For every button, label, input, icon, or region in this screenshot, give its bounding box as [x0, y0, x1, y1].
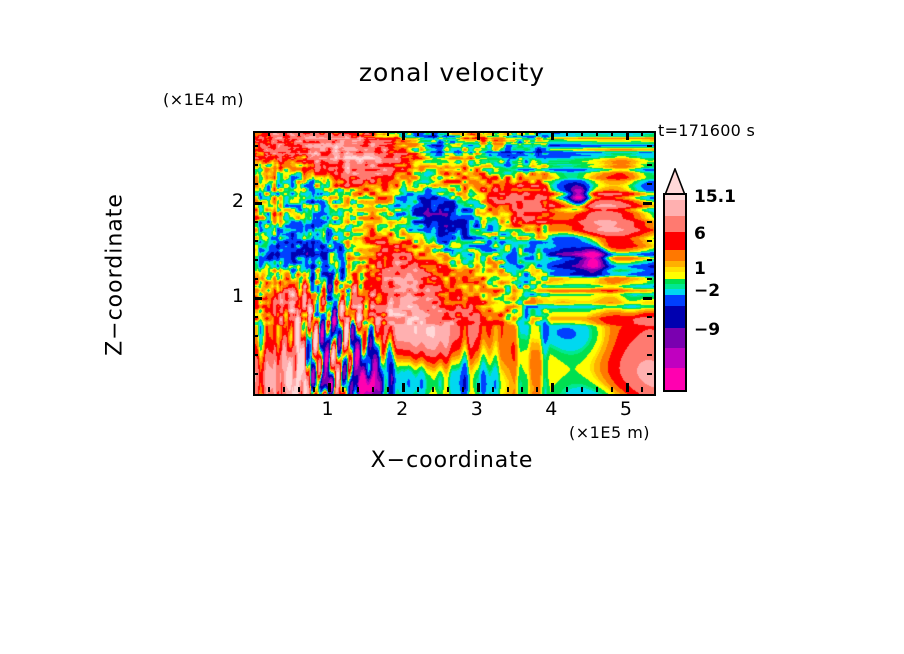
- axis-tick: [507, 387, 509, 392]
- axis-tick: [647, 373, 652, 375]
- axis-tick: [253, 354, 258, 356]
- colorbar-tick-label: −2: [694, 281, 720, 301]
- axis-tick: [313, 131, 315, 136]
- axis-tick: [357, 387, 359, 392]
- axis-tick: [253, 297, 262, 300]
- axis-tick: [626, 131, 629, 140]
- axis-tick: [566, 131, 568, 136]
- colorbar-tick-label: −9: [694, 320, 720, 340]
- axis-tick: [647, 278, 652, 280]
- colorbar-tick-label: 15.1: [694, 187, 736, 207]
- axis-tick: [647, 316, 652, 318]
- axis-tick: [477, 131, 480, 140]
- axis-tick: [387, 131, 389, 136]
- axis-tick: [647, 164, 652, 166]
- axis-tick: [313, 387, 315, 392]
- axis-tick: [647, 259, 652, 261]
- y-tick-label: 1: [222, 285, 244, 307]
- colorbar-tick-label: 6: [694, 224, 706, 244]
- axis-tick: [402, 131, 405, 140]
- axis-tick: [521, 387, 523, 392]
- timestamp-label: t=171600 s: [658, 121, 755, 140]
- x-axis-title: X−coordinate: [0, 448, 904, 473]
- axis-tick: [253, 202, 262, 205]
- colorbar-band: [665, 200, 685, 216]
- axis-tick: [611, 387, 613, 392]
- axis-tick: [462, 387, 464, 392]
- x-tick-label: 1: [313, 398, 343, 420]
- axis-tick: [417, 387, 419, 392]
- axis-tick: [253, 164, 258, 166]
- axis-tick: [647, 240, 652, 242]
- axis-tick: [402, 383, 405, 392]
- axis-tick: [283, 387, 285, 392]
- axis-tick: [566, 387, 568, 392]
- page-title: zonal velocity: [0, 58, 904, 87]
- axis-tick: [626, 383, 629, 392]
- contour-field-canvas: [255, 133, 654, 394]
- colorbar-band: [665, 216, 685, 232]
- axis-tick: [268, 387, 270, 392]
- x-axis-units-label: (×1E5 m): [569, 423, 650, 442]
- axis-tick: [298, 131, 300, 136]
- y-tick-label: 2: [222, 190, 244, 212]
- colorbar-band: [665, 250, 685, 261]
- y-axis-units-label: (×1E4 m): [163, 90, 244, 109]
- axis-tick: [253, 221, 258, 223]
- colorbar-band: [665, 348, 685, 368]
- axis-tick: [447, 387, 449, 392]
- axis-tick: [596, 131, 598, 136]
- x-tick-label: 4: [536, 398, 566, 420]
- axis-tick: [536, 131, 538, 136]
- axis-tick: [551, 383, 554, 392]
- axis-tick: [462, 131, 464, 136]
- axis-tick: [342, 387, 344, 392]
- x-tick-label: 5: [611, 398, 641, 420]
- colorbar[interactable]: [663, 193, 687, 392]
- axis-tick: [372, 387, 374, 392]
- contour-plot-area: [253, 131, 656, 396]
- axis-tick: [581, 131, 583, 136]
- axis-tick: [283, 131, 285, 136]
- axis-tick: [268, 131, 270, 136]
- axis-tick: [647, 183, 652, 185]
- axis-tick: [643, 202, 652, 205]
- colorbar-band: [665, 232, 685, 250]
- axis-tick: [551, 131, 554, 140]
- axis-tick: [647, 354, 652, 356]
- axis-tick: [253, 316, 258, 318]
- colorbar-band: [665, 272, 685, 279]
- axis-tick: [477, 383, 480, 392]
- axis-tick: [611, 131, 613, 136]
- axis-tick: [492, 131, 494, 136]
- colorbar-band: [665, 295, 685, 306]
- axis-tick: [647, 335, 652, 337]
- axis-tick: [536, 387, 538, 392]
- colorbar-overflow-arrow: [663, 168, 687, 196]
- axis-tick: [581, 387, 583, 392]
- axis-tick: [447, 131, 449, 136]
- axis-tick: [328, 383, 331, 392]
- axis-tick: [643, 297, 652, 300]
- colorbar-band: [665, 368, 685, 390]
- colorbar-band: [665, 328, 685, 348]
- axis-tick: [387, 387, 389, 392]
- axis-tick: [432, 131, 434, 136]
- axis-tick: [253, 335, 258, 337]
- axis-tick: [328, 131, 331, 140]
- axis-tick: [253, 259, 258, 261]
- axis-tick: [647, 145, 652, 147]
- axis-tick: [253, 278, 258, 280]
- axis-tick: [647, 221, 652, 223]
- axis-tick: [641, 387, 643, 392]
- axis-tick: [507, 131, 509, 136]
- axis-tick: [432, 387, 434, 392]
- axis-tick: [357, 131, 359, 136]
- axis-tick: [641, 131, 643, 136]
- axis-tick: [253, 183, 258, 185]
- colorbar-band: [665, 306, 685, 328]
- axis-tick: [521, 131, 523, 136]
- axis-tick: [492, 387, 494, 392]
- axis-tick: [417, 131, 419, 136]
- axis-tick: [372, 131, 374, 136]
- axis-tick: [342, 131, 344, 136]
- axis-tick: [253, 145, 258, 147]
- axis-tick: [253, 373, 258, 375]
- colorbar-tick-label: 1: [694, 259, 706, 279]
- x-tick-label: 3: [462, 398, 492, 420]
- x-tick-label: 2: [387, 398, 417, 420]
- axis-tick: [596, 387, 598, 392]
- y-axis-title: Z−coordinate: [103, 155, 128, 395]
- axis-tick: [298, 387, 300, 392]
- axis-tick: [253, 240, 258, 242]
